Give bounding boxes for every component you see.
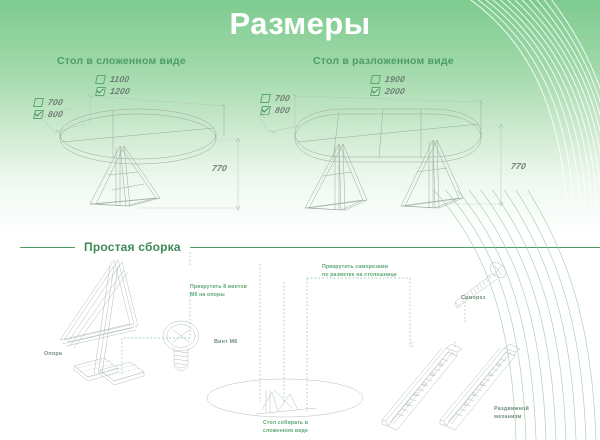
note-screw-supports: Прикрутить 8 винтов М6 на опоры <box>190 284 247 299</box>
unfolded-height-label: 770 <box>510 161 527 171</box>
folded-height-label: 770 <box>211 163 228 173</box>
infographic-page: Размеры Стол в сложенном виде 1100 1200 … <box>0 0 600 440</box>
folded-table-drawing <box>28 80 258 215</box>
page-title: Размеры <box>0 6 600 42</box>
note-self-tapping: Прикрутить саморезами по разметке на сто… <box>322 264 397 279</box>
callout-connectors <box>0 252 600 440</box>
note-assemble-folded: Стол собирать в сложенном виде <box>263 420 308 435</box>
divider-left <box>20 247 75 248</box>
section-caption-unfolded: Стол в разложенном виде <box>313 55 454 67</box>
section-caption-folded: Стол в сложенном виде <box>57 55 186 67</box>
